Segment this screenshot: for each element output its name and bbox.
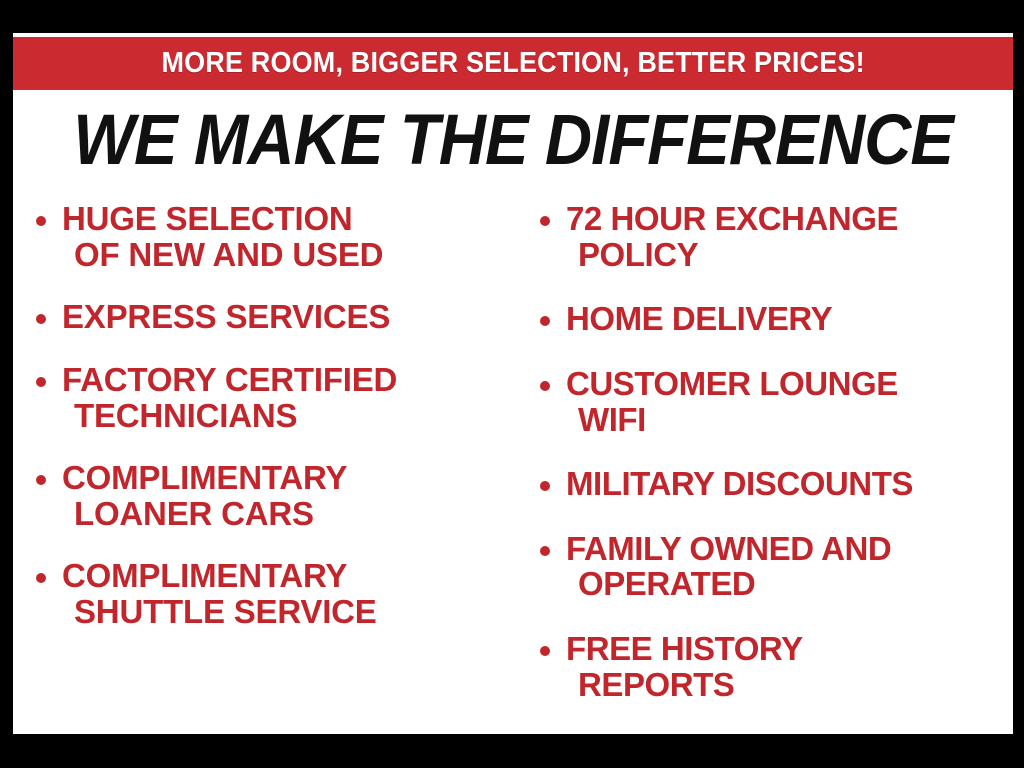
- list-item-text: 72 HOUR EXCHANGE POLICY: [566, 201, 1013, 272]
- list-item-line-2: TECHNICIANS: [62, 398, 517, 434]
- list-item-line-1: 72 HOUR EXCHANGE: [566, 200, 898, 237]
- bullet-dot-icon: [540, 381, 550, 391]
- list-item-line-2: LOANER CARS: [62, 496, 517, 532]
- list-item-line-1: CUSTOMER LOUNGE: [566, 365, 898, 402]
- list-item-line-1: COMPLIMENTARY: [62, 557, 347, 594]
- list-item: EXPRESS SERVICES: [25, 299, 517, 335]
- list-item: FAMILY OWNED AND OPERATED: [529, 531, 1013, 602]
- poster-card: MORE ROOM, BIGGER SELECTION, BETTER PRIC…: [13, 33, 1013, 734]
- bullet-dot-icon: [540, 316, 550, 326]
- list-item: FREE HISTORY REPORTS: [529, 631, 1013, 702]
- list-item-text: COMPLIMENTARY LOANER CARS: [62, 460, 517, 531]
- list-item-line-2: OF NEW AND USED: [62, 237, 517, 273]
- list-item-line-2: POLICY: [566, 237, 1013, 273]
- list-item-line-2: WIFI: [566, 402, 1013, 438]
- bullet-dot-icon: [540, 546, 550, 556]
- promo-banner-text: MORE ROOM, BIGGER SELECTION, BETTER PRIC…: [161, 47, 864, 80]
- list-item-line-1: MILITARY DISCOUNTS: [566, 465, 913, 502]
- list-item-line-1: FACTORY CERTIFIED: [62, 361, 397, 398]
- bullet-dot-icon: [36, 475, 46, 485]
- bullet-dot-icon: [36, 573, 46, 583]
- benefits-column-right: 72 HOUR EXCHANGE POLICY HOME DELIVERY CU…: [529, 201, 1013, 731]
- list-item: MILITARY DISCOUNTS: [529, 466, 1013, 502]
- bullet-dot-icon: [540, 216, 550, 226]
- bullet-dot-icon: [36, 314, 46, 324]
- list-item-text: FREE HISTORY REPORTS: [566, 631, 1013, 702]
- poster-frame: MORE ROOM, BIGGER SELECTION, BETTER PRIC…: [0, 0, 1024, 768]
- list-item: COMPLIMENTARY LOANER CARS: [25, 460, 517, 531]
- list-item-text: MILITARY DISCOUNTS: [566, 466, 1013, 502]
- bullet-dot-icon: [540, 481, 550, 491]
- bullet-dot-icon: [540, 646, 550, 656]
- list-item-line-1: HUGE SELECTION: [62, 200, 353, 237]
- list-item-text: HUGE SELECTION OF NEW AND USED: [62, 201, 517, 272]
- benefits-columns: HUGE SELECTION OF NEW AND USED EXPRESS S…: [13, 201, 1013, 721]
- headline: WE MAKE THE DIFFERENCE: [13, 105, 1013, 176]
- list-item-line-2: OPERATED: [566, 566, 1013, 602]
- list-item-text: EXPRESS SERVICES: [62, 299, 517, 335]
- headline-text: WE MAKE THE DIFFERENCE: [73, 105, 953, 176]
- benefits-column-left: HUGE SELECTION OF NEW AND USED EXPRESS S…: [25, 201, 517, 657]
- list-item-text: COMPLIMENTARY SHUTTLE SERVICE: [62, 558, 517, 629]
- list-item: HUGE SELECTION OF NEW AND USED: [25, 201, 517, 272]
- list-item-line-1: HOME DELIVERY: [566, 300, 832, 337]
- list-item: CUSTOMER LOUNGE WIFI: [529, 366, 1013, 437]
- list-item-text: FACTORY CERTIFIED TECHNICIANS: [62, 362, 517, 433]
- list-item: HOME DELIVERY: [529, 301, 1013, 337]
- list-item-line-2: REPORTS: [566, 667, 1013, 703]
- list-item-text: CUSTOMER LOUNGE WIFI: [566, 366, 1013, 437]
- promo-banner: MORE ROOM, BIGGER SELECTION, BETTER PRIC…: [13, 37, 1013, 90]
- list-item-line-1: EXPRESS SERVICES: [62, 298, 390, 335]
- bullet-dot-icon: [36, 377, 46, 387]
- list-item: COMPLIMENTARY SHUTTLE SERVICE: [25, 558, 517, 629]
- list-item-text: HOME DELIVERY: [566, 301, 1013, 337]
- list-item: FACTORY CERTIFIED TECHNICIANS: [25, 362, 517, 433]
- bullet-dot-icon: [36, 216, 46, 226]
- list-item-line-2: SHUTTLE SERVICE: [62, 594, 517, 630]
- list-item: 72 HOUR EXCHANGE POLICY: [529, 201, 1013, 272]
- list-item-line-1: FREE HISTORY: [566, 630, 803, 667]
- list-item-text: FAMILY OWNED AND OPERATED: [566, 531, 1013, 602]
- list-item-line-1: COMPLIMENTARY: [62, 459, 347, 496]
- list-item-line-1: FAMILY OWNED AND: [566, 530, 891, 567]
